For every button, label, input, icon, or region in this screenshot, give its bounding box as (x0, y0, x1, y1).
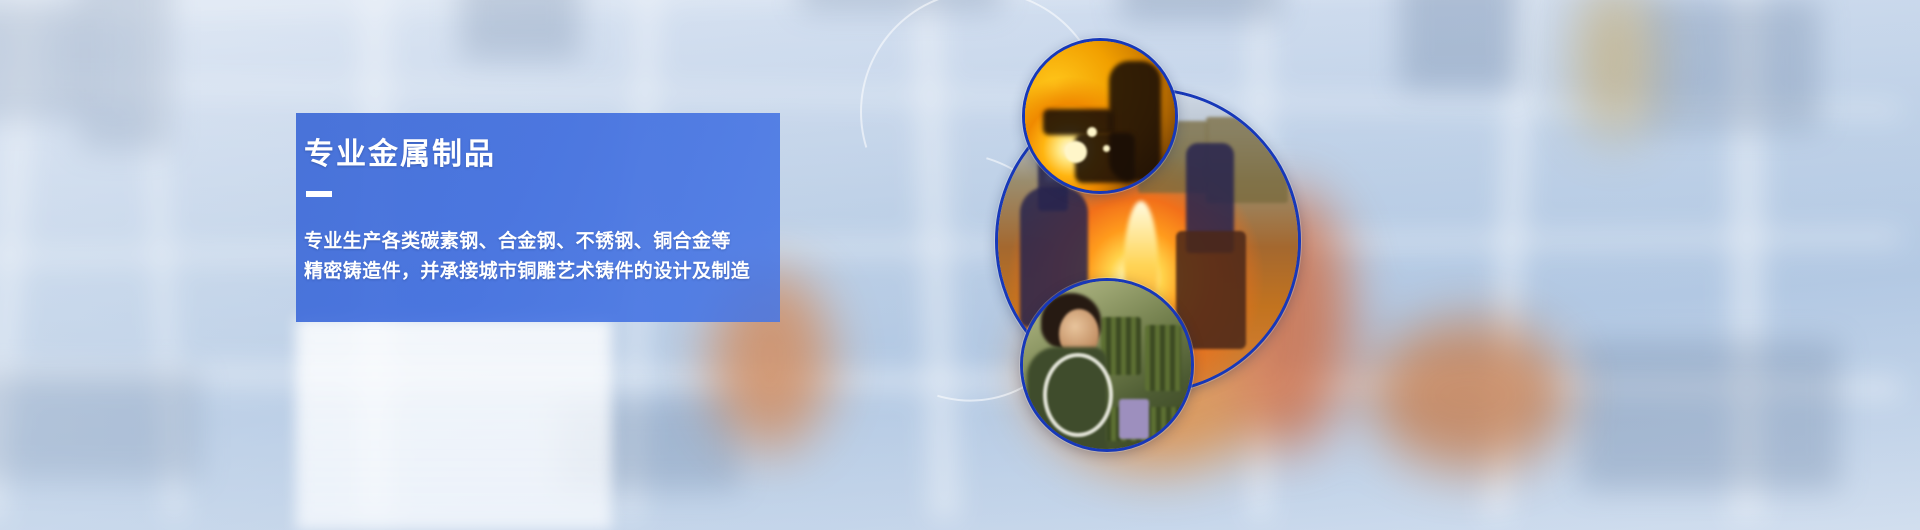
description-line-1: 专业生产各类碳素钢、合金钢、不锈钢、铜合金等 (304, 227, 804, 257)
page-title: 专业金属制品 (304, 140, 496, 170)
assembly-photo (1020, 278, 1194, 452)
photo-cluster (0, 0, 1920, 530)
panel-description: 专业生产各类碳素钢、合金钢、不锈钢、铜合金等 精密铸造件，并承接城市铜雕艺术铸件… (304, 227, 804, 287)
hero-banner: 专业金属制品 专业生产各类碳素钢、合金钢、不锈钢、铜合金等 精密铸造件，并承接城… (0, 0, 1920, 530)
divider-dash (306, 191, 332, 197)
description-line-2: 精密铸造件，并承接城市铜雕艺术铸件的设计及制造 (304, 257, 804, 287)
promo-panel: 专业金属制品 专业生产各类碳素钢、合金钢、不锈钢、铜合金等 精密铸造件，并承接城… (296, 113, 780, 322)
welding-photo (1022, 38, 1178, 194)
